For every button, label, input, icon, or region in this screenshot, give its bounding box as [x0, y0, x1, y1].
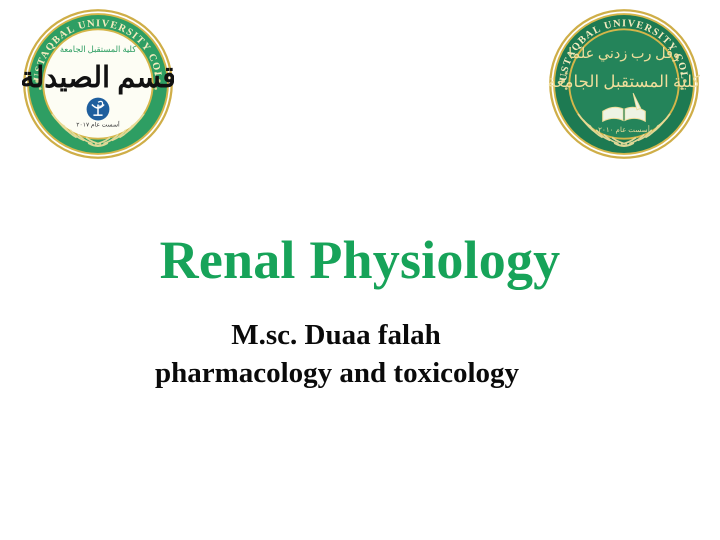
pharmacy-bowl-of-hygieia-icon: [87, 98, 110, 121]
page-title: Renal Physiology: [0, 232, 720, 289]
logo-left-pharmacy-seal: AL-MUSTAQBAL UNIVERSITY COLLEGE كلية الم…: [22, 8, 174, 160]
logo-right-arabic-main: كلية المستقبل الجامعة: [548, 72, 700, 91]
subtitle-block: M.sc. Duaa falah pharmacology and toxico…: [0, 316, 720, 393]
logo-left-arabic-top: كلية المستقبل الجامعة: [60, 45, 136, 54]
logo-left-arabic-main: قسم الصيدلة: [22, 62, 174, 95]
presenter-department: pharmacology and toxicology: [0, 354, 720, 392]
slide-canvas: AL-MUSTAQBAL UNIVERSITY COLLEGE كلية الم…: [0, 0, 720, 540]
title-block: Renal Physiology: [0, 232, 720, 289]
presenter-name: M.sc. Duaa falah: [0, 316, 720, 354]
logo-right-arabic-top: وقل رب زدني علما: [568, 46, 680, 62]
logo-right-arabic-footer: أسست عام ٢٠١٠: [598, 124, 650, 134]
logo-right-university-seal: AL-MUSTAQBAL UNIVERSITY COLLEGE وقل رب ز…: [548, 8, 700, 160]
